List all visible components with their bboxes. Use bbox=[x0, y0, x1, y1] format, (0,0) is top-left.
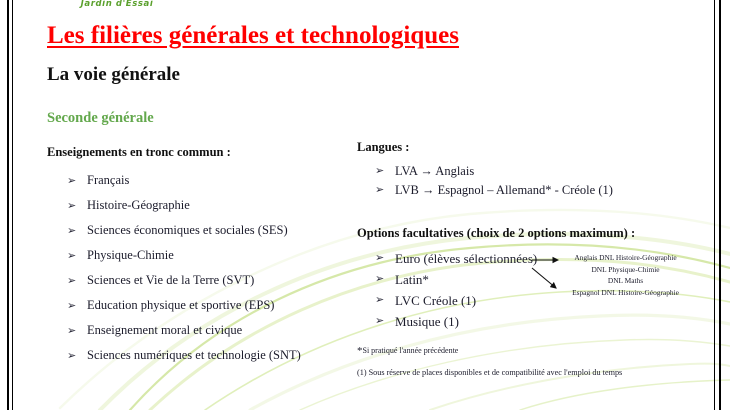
bullet-arrow-icon: ➢ bbox=[375, 162, 384, 181]
slide-page: Jardin d'Essai Les filières générales et… bbox=[0, 0, 730, 410]
subtitle: La voie générale bbox=[47, 64, 180, 86]
bullet-arrow-icon: ➢ bbox=[67, 269, 76, 294]
footnotes: *Si pratiqué l'année précédente (1) Sous… bbox=[357, 345, 622, 377]
tronc-commun-heading: Enseignements en tronc commun : bbox=[47, 145, 301, 160]
list-item-label: LVB → Espagnol – Allemand* - Créole (1) bbox=[395, 183, 613, 197]
list-item-label: Latin* bbox=[395, 272, 429, 287]
footnote-numbered: (1) Sous réserve de places disponibles e… bbox=[357, 368, 622, 377]
list-item: ➢Sciences économiques et sociales (SES) bbox=[67, 218, 301, 243]
jardin-d-essai-logo: Jardin d'Essai bbox=[58, 0, 176, 10]
bullet-arrow-icon: ➢ bbox=[375, 311, 384, 332]
section-heading: Seconde générale bbox=[47, 110, 154, 127]
bullet-arrow-icon: ➢ bbox=[375, 181, 384, 200]
logo-text: Jardin d'Essai bbox=[58, 0, 176, 9]
dnl-annotation: Anglais DNL Histoire-Géographie DNL Phys… bbox=[558, 252, 693, 298]
langues-list: ➢LVA → Anglais ➢LVB → Espagnol – Alleman… bbox=[375, 162, 635, 200]
dnl-line: DNL Physique-Chimie bbox=[558, 264, 693, 276]
page-title: Les filières générales et technologiques bbox=[47, 22, 459, 50]
dnl-line: Anglais DNL Histoire-Géographie bbox=[558, 252, 693, 264]
langues-heading: Langues : bbox=[357, 140, 635, 155]
list-item-label: Sciences économiques et sociales (SES) bbox=[87, 223, 288, 237]
page-border-right-inner bbox=[714, 0, 715, 410]
list-item-label: Physique-Chimie bbox=[87, 248, 174, 262]
list-item: ➢Physique-Chimie bbox=[67, 243, 301, 268]
bullet-arrow-icon: ➢ bbox=[67, 194, 76, 219]
list-item: ➢Enseignement moral et civique bbox=[67, 318, 301, 343]
list-item: ➢Histoire-Géographie bbox=[67, 193, 301, 218]
tronc-commun-list: ➢Français ➢Histoire-Géographie ➢Sciences… bbox=[67, 168, 301, 368]
bullet-arrow-icon: ➢ bbox=[67, 294, 76, 319]
bullet-arrow-icon: ➢ bbox=[67, 319, 76, 344]
list-item: ➢Musique (1) bbox=[375, 311, 635, 332]
footnote-star: *Si pratiqué l'année précédente bbox=[357, 345, 622, 357]
bullet-arrow-icon: ➢ bbox=[375, 269, 384, 290]
page-border-left-outer bbox=[7, 0, 9, 410]
list-item: ➢Français bbox=[67, 168, 301, 193]
list-item: ➢Sciences et Vie de la Terre (SVT) bbox=[67, 268, 301, 293]
bullet-arrow-icon: ➢ bbox=[375, 290, 384, 311]
list-item: ➢LVA → Anglais bbox=[375, 162, 635, 181]
list-item: ➢Education physique et sportive (EPS) bbox=[67, 293, 301, 318]
list-item-label: Français bbox=[87, 173, 129, 187]
bullet-arrow-icon: ➢ bbox=[67, 169, 76, 194]
list-item-label: Enseignement moral et civique bbox=[87, 323, 242, 337]
list-item-label: LVC Créole (1) bbox=[395, 293, 476, 308]
page-border-right-outer bbox=[719, 0, 721, 410]
list-item-label: Education physique et sportive (EPS) bbox=[87, 298, 274, 312]
page-border-left-inner bbox=[12, 0, 13, 410]
list-item-label: Sciences numériques et technologie (SNT) bbox=[87, 348, 301, 362]
list-item: ➢LVB → Espagnol – Allemand* - Créole (1) bbox=[375, 181, 635, 200]
list-item-label: Euro (élèves sélectionnées) bbox=[395, 251, 537, 266]
bullet-arrow-icon: ➢ bbox=[375, 248, 384, 269]
options-heading: Options facultatives (choix de 2 options… bbox=[357, 226, 635, 241]
dnl-line: Espagnol DNL Histoire-Géographie bbox=[558, 287, 693, 299]
dnl-line: DNL Maths bbox=[558, 275, 693, 287]
list-item-label: Sciences et Vie de la Terre (SVT) bbox=[87, 273, 254, 287]
list-item-label: Histoire-Géographie bbox=[87, 198, 190, 212]
list-item-label: Musique (1) bbox=[395, 314, 459, 329]
list-item: ➢Sciences numériques et technologie (SNT… bbox=[67, 343, 301, 368]
bullet-arrow-icon: ➢ bbox=[67, 219, 76, 244]
list-item-label: LVA → Anglais bbox=[395, 164, 474, 178]
footnote-star-text: Si pratiqué l'année précédente bbox=[363, 346, 459, 355]
bullet-arrow-icon: ➢ bbox=[67, 344, 76, 369]
langues-options-column: Langues : ➢LVA → Anglais ➢LVB → Espagnol… bbox=[357, 140, 635, 332]
tronc-commun-column: Enseignements en tronc commun : ➢Françai… bbox=[47, 145, 301, 368]
bullet-arrow-icon: ➢ bbox=[67, 244, 76, 269]
